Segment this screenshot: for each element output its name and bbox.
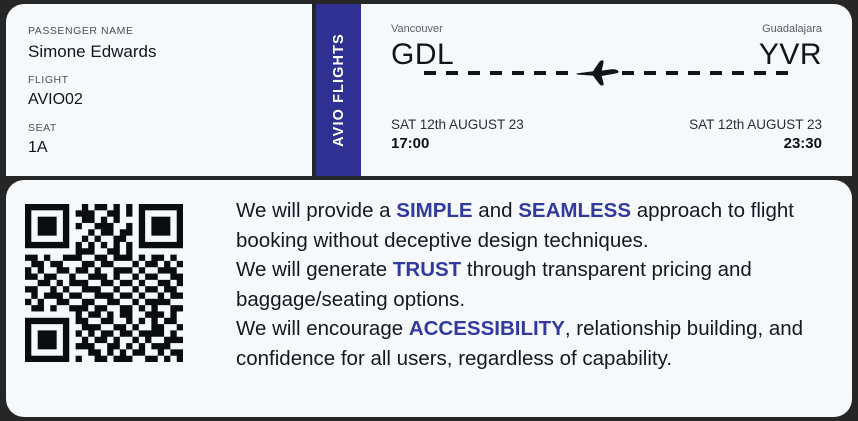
arrival-time: 23:30	[784, 134, 822, 154]
manifesto-keyword: ACCESSIBILITY	[409, 317, 565, 340]
flight-label: FLIGHT	[28, 75, 312, 87]
manifesto-line: We will provide a SIMPLE and SEAMLESS ap…	[236, 196, 842, 255]
seat-number-value: 1A	[28, 139, 312, 157]
manifesto-line: We will encourage ACCESSIBILITY, relatio…	[236, 314, 842, 373]
manifesto-text: and	[473, 199, 519, 222]
qr-code[interactable]	[25, 204, 183, 362]
flight-route-panel: Vancouver GDL Guadalajara YVR SAT 12th A…	[361, 4, 852, 176]
manifesto-text: We will encourage	[236, 317, 409, 340]
arrival-code: YVR	[759, 40, 822, 70]
departure-code: GDL	[391, 40, 454, 70]
passenger-name-label: PASSENGER NAME	[28, 26, 312, 38]
dashed-line-right	[622, 71, 790, 75]
departure-endpoint: Vancouver GDL	[391, 24, 454, 70]
arrival-datetime: SAT 12th AUGUST 23 23:30	[689, 116, 822, 154]
route-endpoints: Vancouver GDL Guadalajara YVR	[391, 24, 822, 70]
dashed-line-left	[424, 71, 574, 75]
departure-time: 17:00	[391, 134, 524, 154]
manifesto-text: We will generate	[236, 258, 393, 281]
seat-label: SEAT	[28, 123, 312, 135]
departure-datetime: SAT 12th AUGUST 23 17:00	[391, 116, 524, 154]
manifesto-keyword: SIMPLE	[396, 199, 472, 222]
accessibility-manifesto: We will provide a SIMPLE and SEAMLESS ap…	[236, 196, 842, 373]
qr-code-canvas	[25, 204, 183, 362]
arrival-endpoint: Guadalajara YVR	[759, 24, 822, 70]
passenger-stub: PASSENGER NAME Simone Edwards FLIGHT AVI…	[6, 4, 312, 176]
manifesto-line: We will generate TRUST through transpare…	[236, 255, 842, 314]
manifesto-keyword: TRUST	[393, 258, 461, 281]
flight-number-value: AVIO02	[28, 91, 312, 109]
route-times: SAT 12th AUGUST 23 17:00 SAT 12th AUGUST…	[391, 116, 822, 154]
flight-path	[391, 62, 822, 84]
arrival-date: SAT 12th AUGUST 23	[689, 116, 822, 134]
departure-date: SAT 12th AUGUST 23	[391, 116, 524, 134]
departure-city: Vancouver	[391, 24, 454, 35]
manifesto-keyword: SEAMLESS	[518, 199, 631, 222]
manifesto-text: We will provide a	[236, 199, 396, 222]
passenger-name-value: Simone Edwards	[28, 42, 312, 62]
brand-name: AVIO FLIGHTS	[316, 4, 361, 176]
airplane-icon	[576, 59, 620, 87]
boarding-pass-screen: PASSENGER NAME Simone Edwards FLIGHT AVI…	[0, 0, 858, 421]
brand-band: AVIO FLIGHTS	[316, 4, 361, 176]
arrival-city: Guadalajara	[762, 24, 822, 35]
